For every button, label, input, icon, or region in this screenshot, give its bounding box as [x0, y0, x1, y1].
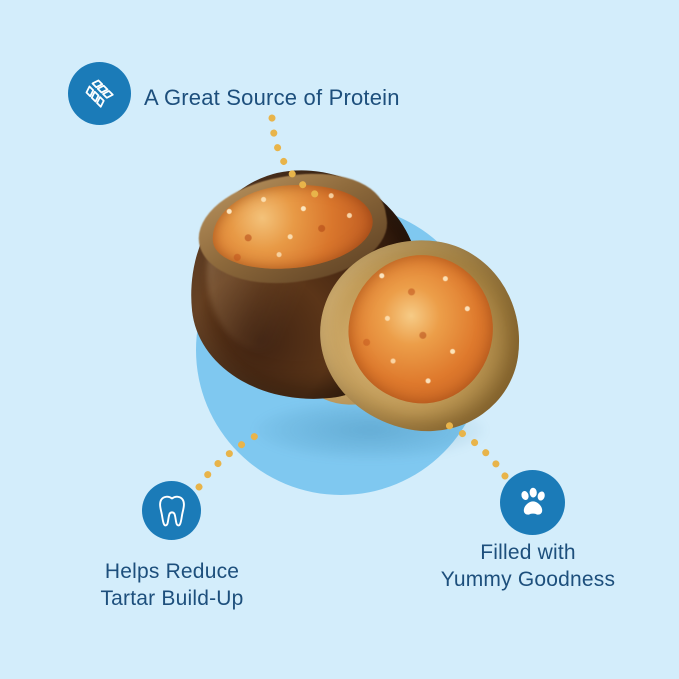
chew-front-filling [339, 246, 502, 413]
feature-label-tartar: Helps Reduce Tartar Build-Up [92, 559, 252, 613]
feature-label-protein: A Great Source of Protein [144, 84, 400, 112]
feature-label-yummy: Filled with Yummy Goodness [423, 540, 633, 594]
tooth-icon [156, 493, 188, 529]
chew-front-half [308, 227, 532, 443]
dna-icon [83, 77, 117, 111]
feature-badge-tartar[interactable] [142, 481, 201, 540]
paw-icon [514, 484, 552, 522]
product-feature-infographic: A Great Source of Protein Helps Reduce T… [0, 0, 679, 679]
feature-badge-protein[interactable] [68, 62, 131, 125]
product-image [170, 165, 520, 445]
feature-badge-yummy[interactable] [500, 470, 565, 535]
